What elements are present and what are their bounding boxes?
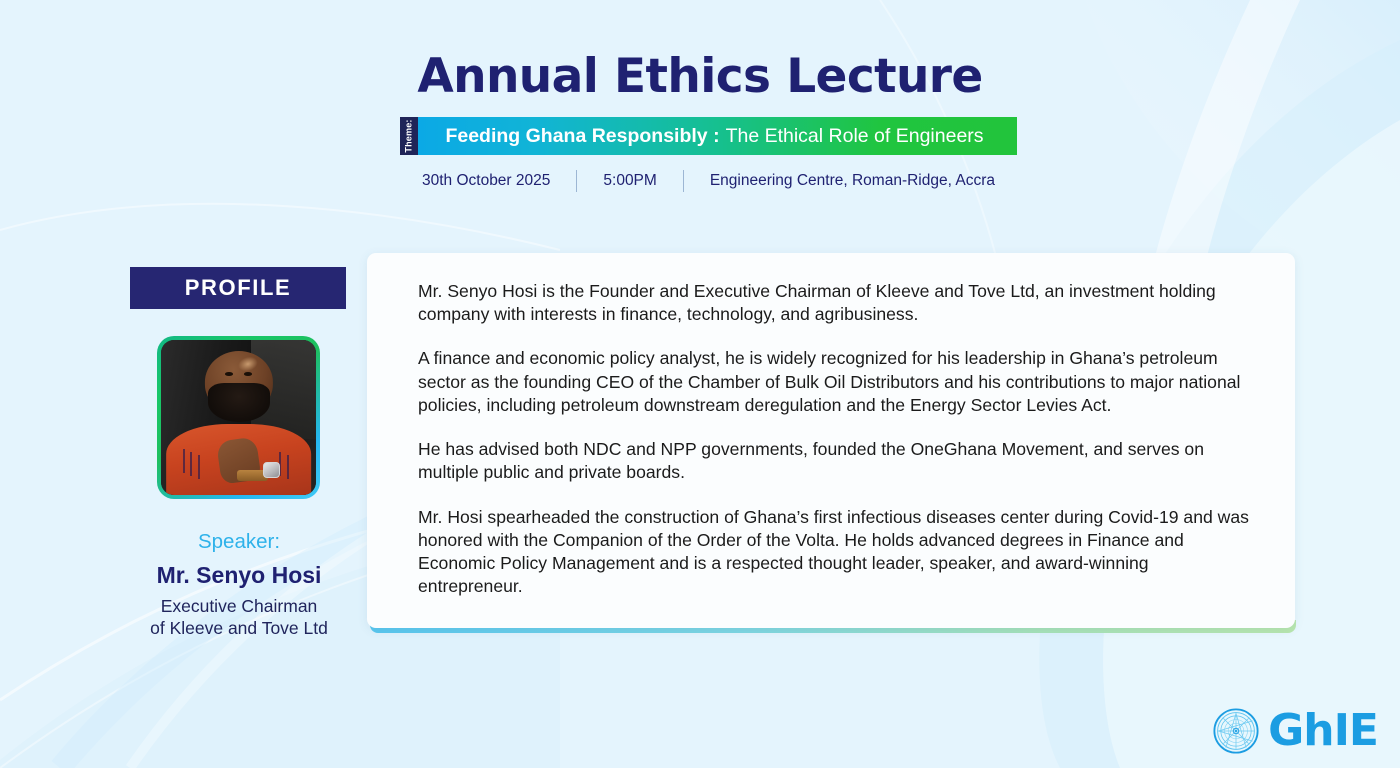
event-time: 5:00PM <box>603 172 656 190</box>
bio-card: Mr. Senyo Hosi is the Founder and Execut… <box>367 253 1295 628</box>
speaker-role: Executive Chairman of Kleeve and Tove Lt… <box>100 596 378 640</box>
event-date: 30th October 2025 <box>422 172 550 190</box>
speaker-name: Mr. Senyo Hosi <box>100 562 378 589</box>
theme-text: Feeding Ghana Responsibly : The Ethical … <box>418 117 1017 155</box>
speaker-role-line-1: Executive Chairman <box>100 596 378 618</box>
bio-paragraph: A finance and economic policy analyst, h… <box>418 347 1255 417</box>
meta-divider <box>576 170 577 192</box>
speaker-photo <box>161 340 316 495</box>
speaker-role-line-2: of Kleeve and Tove Ltd <box>100 618 378 640</box>
ghie-seal-icon <box>1213 708 1259 754</box>
event-poster: Annual Ethics Lecture Theme: Feeding Gha… <box>0 0 1400 768</box>
speaker-label: Speaker: <box>100 530 378 554</box>
event-meta-row: 30th October 2025 5:00PM Engineering Cen… <box>400 170 1017 192</box>
speaker-photo-frame <box>157 336 320 499</box>
bio-paragraph: Mr. Hosi spearheaded the construction of… <box>418 506 1255 599</box>
event-venue: Engineering Centre, Roman-Ridge, Accra <box>710 172 995 190</box>
theme-bold-part: Feeding Ghana Responsibly : <box>445 125 719 148</box>
theme-regular-part: The Ethical Role of Engineers <box>726 125 984 148</box>
theme-tag: Theme: <box>400 117 418 155</box>
bio-paragraph: Mr. Senyo Hosi is the Founder and Execut… <box>418 280 1255 326</box>
bio-paragraph: He has advised both NDC and NPP governme… <box>418 438 1255 484</box>
profile-badge-label: PROFILE <box>185 275 292 301</box>
profile-badge: PROFILE <box>130 267 346 309</box>
ghie-wordmark: GhIE <box>1268 705 1378 756</box>
page-title: Annual Ethics Lecture <box>0 49 1400 104</box>
poster-header: Annual Ethics Lecture <box>0 0 1400 104</box>
theme-banner: Theme: Feeding Ghana Responsibly : The E… <box>400 117 1017 155</box>
theme-tag-label: Theme: <box>404 119 414 152</box>
meta-divider <box>683 170 684 192</box>
ghie-logo: GhIE <box>1213 705 1378 756</box>
